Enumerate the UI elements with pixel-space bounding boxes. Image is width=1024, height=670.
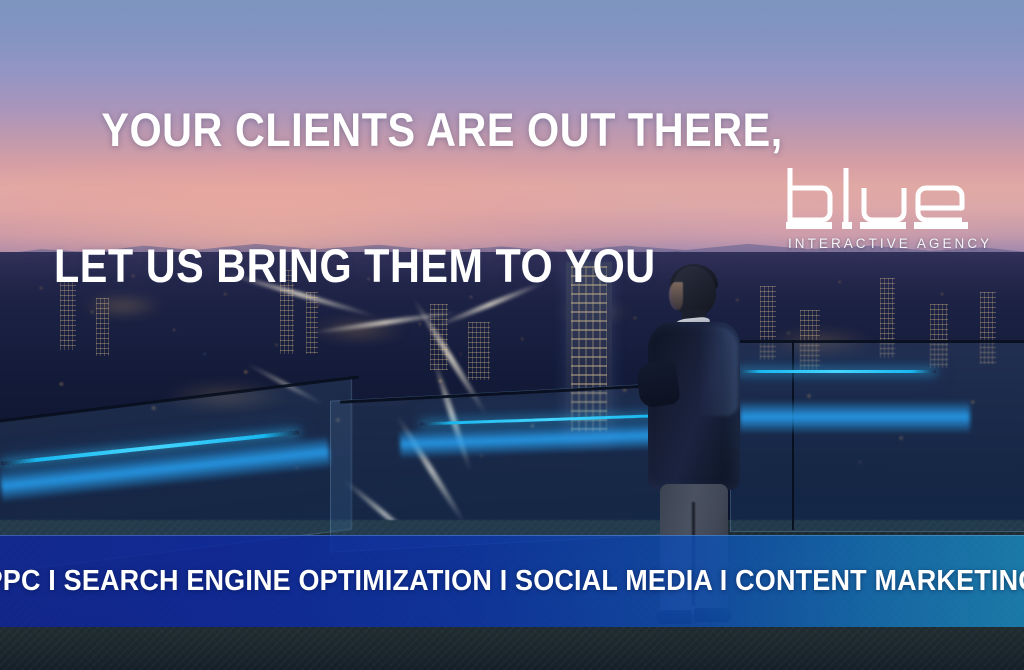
page-title: YOUR CLIENTS ARE OUT THERE, LET US BRING… <box>54 28 783 436</box>
services-banner-text: PPC I SEARCH ENGINE OPTIMIZATION I SOCIA… <box>36 535 988 627</box>
headline-line-1: YOUR CLIENTS ARE OUT THERE, <box>101 103 782 156</box>
headline-line-2: LET US BRING THEM TO YOU <box>54 232 783 300</box>
brand-logo[interactable]: INTERACTIVE AGENCY <box>784 168 970 260</box>
logo-wordmark-blue <box>784 168 970 226</box>
logo-tagline: INTERACTIVE AGENCY <box>788 236 992 251</box>
logo-underline-dashes <box>786 222 968 229</box>
advertisement-banner: YOUR CLIENTS ARE OUT THERE, LET US BRING… <box>0 0 1024 670</box>
railing-post <box>792 340 794 530</box>
